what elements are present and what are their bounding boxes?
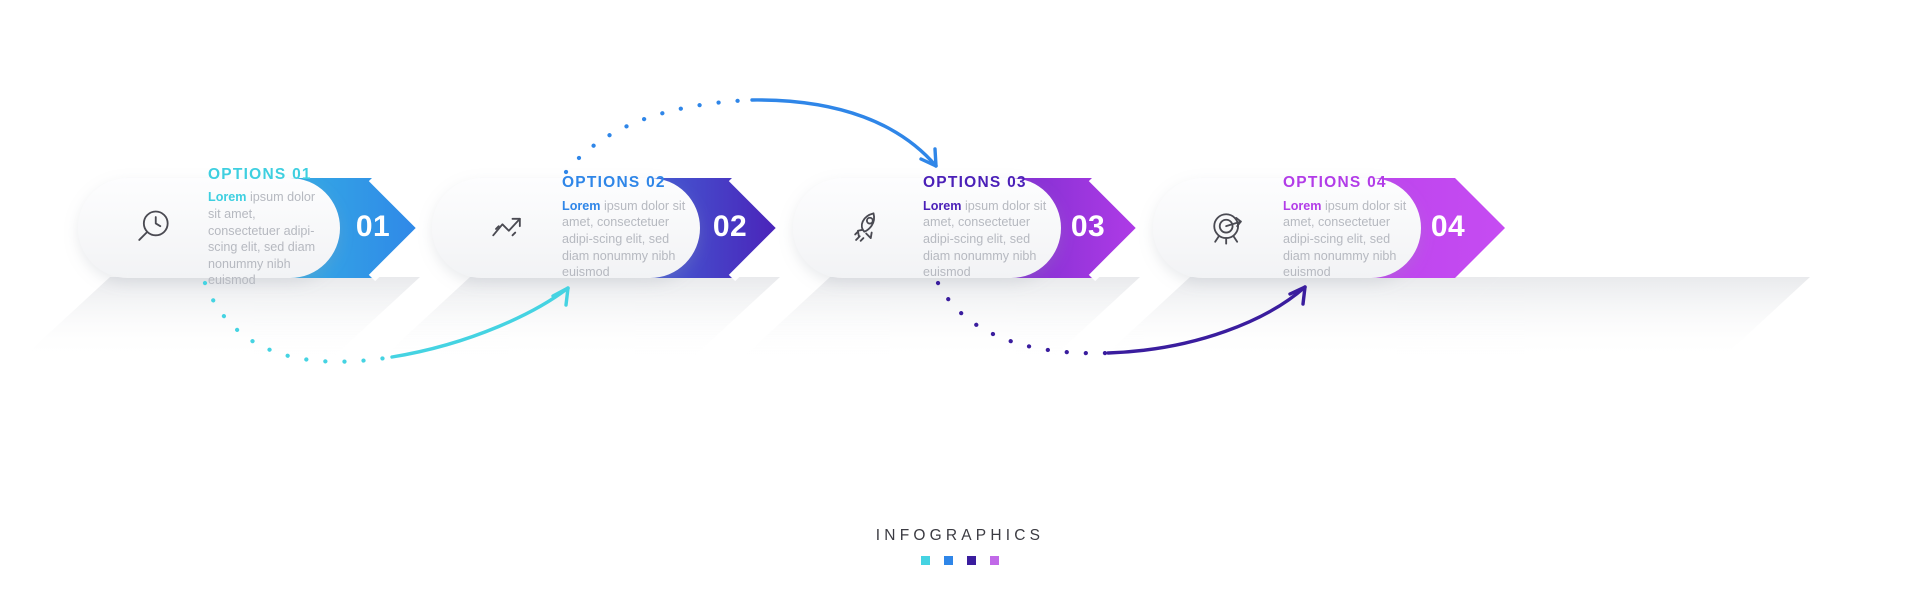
footer-dot-3 <box>967 556 976 565</box>
magnifier-clock-icon <box>116 191 190 265</box>
step-body-lead-03: Lorem <box>923 199 962 213</box>
step-body-rest-01: ipsum dolor sit amet, consectetuer adipi… <box>208 190 315 287</box>
footer: INFOGRAPHICS <box>0 528 1920 565</box>
step-panel-04[interactable]: OPTIONS 04 Lorem ipsum dolor sit amet, c… <box>1153 178 1421 278</box>
step-number-03: 03 <box>1053 212 1123 242</box>
footer-dots <box>0 556 1920 565</box>
target-arrow-icon <box>1191 191 1265 265</box>
step-title-02: OPTIONS 02 <box>562 175 686 191</box>
step-text-02: OPTIONS 02 Lorem ipsum dolor sit amet, c… <box>562 175 700 281</box>
footer-dot-1 <box>921 556 930 565</box>
step-panel-03[interactable]: OPTIONS 03 Lorem ipsum dolor sit amet, c… <box>793 178 1061 278</box>
footer-dot-4 <box>990 556 999 565</box>
step-body-lead-02: Lorem <box>562 199 601 213</box>
rocket-icon <box>831 191 905 265</box>
connector-arc-2 <box>566 100 936 172</box>
step-text-03: OPTIONS 03 Lorem ipsum dolor sit amet, c… <box>923 175 1061 281</box>
footer-dot-2 <box>944 556 953 565</box>
trending-up-icon <box>470 191 544 265</box>
step-body-lead-04: Lorem <box>1283 199 1322 213</box>
step-panel-02[interactable]: OPTIONS 02 Lorem ipsum dolor sit amet, c… <box>432 178 700 278</box>
step-body-01: Lorem ipsum dolor sit amet, consectetuer… <box>208 189 326 289</box>
step-text-04: OPTIONS 04 Lorem ipsum dolor sit amet, c… <box>1283 175 1421 281</box>
step-title-03: OPTIONS 03 <box>923 175 1047 191</box>
step-title-04: OPTIONS 04 <box>1283 175 1407 191</box>
step-panel-01[interactable]: OPTIONS 01 Lorem ipsum dolor sit amet, c… <box>78 178 340 278</box>
step-body-03: Lorem ipsum dolor sit amet, consectetuer… <box>923 198 1047 281</box>
step-number-02: 02 <box>695 212 765 242</box>
step-body-04: Lorem ipsum dolor sit amet, consectetuer… <box>1283 198 1407 281</box>
step-text-01: OPTIONS 01 Lorem ipsum dolor sit amet, c… <box>208 167 340 289</box>
footer-title: INFOGRAPHICS <box>0 528 1920 544</box>
step-body-lead-01: Lorem <box>208 190 247 204</box>
ribbon-shadows <box>20 277 1810 360</box>
step-number-01: 01 <box>338 212 408 242</box>
step-body-02: Lorem ipsum dolor sit amet, consectetuer… <box>562 198 686 281</box>
step-number-04: 04 <box>1413 212 1483 242</box>
infographic-canvas: OPTIONS 01 Lorem ipsum dolor sit amet, c… <box>0 0 1920 591</box>
step-title-01: OPTIONS 01 <box>208 167 326 183</box>
infographic-artwork <box>0 0 1920 591</box>
